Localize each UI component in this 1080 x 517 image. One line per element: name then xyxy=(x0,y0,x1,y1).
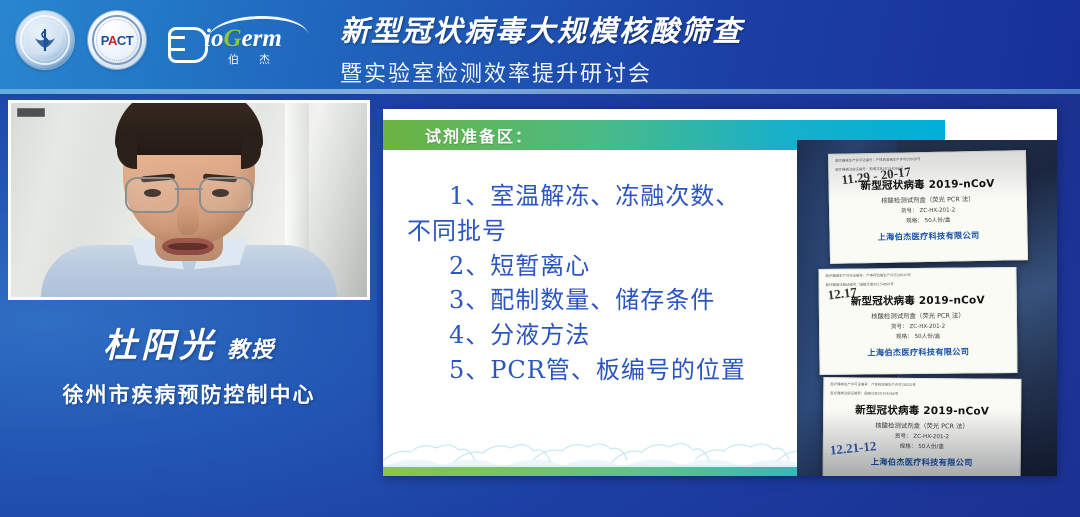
kit-handwriting: 12.17 xyxy=(827,284,858,303)
kit-reg-line-1: 医疗器械生产许可证编号：产体药监械生产许可20020号 xyxy=(830,382,1014,389)
event-banner: PACT ioGerm 伯杰 新型冠状病毒大规模核酸筛查 暨实验室检测效率提升研… xyxy=(0,0,1080,94)
reagent-photo: 医疗器械生产许可证编号：产体药监械生产许可20020号 医疗器械注册证编号：国械… xyxy=(797,140,1057,476)
speaker-video-panel[interactable] xyxy=(8,100,370,300)
speaker-figure xyxy=(49,107,329,297)
kit-product-sub: 核酸检测试剂盒（荧光 PCR 法） xyxy=(824,420,1020,431)
kit-reg-line-2: 医疗器械注册证编号：国械注准20154066号 xyxy=(830,391,1014,398)
event-subtitle: 暨实验室检测效率提升研讨会 xyxy=(340,56,743,88)
event-title: 新型冠状病毒大规模核酸筛查 xyxy=(340,8,743,50)
kit-product-sub: 核酸检测试剂盒（荧光 PCR 法） xyxy=(820,310,1016,321)
kit-reg-line-1: 医疗器械生产许可证编号：产体药监械生产许可20020号 xyxy=(826,272,1010,279)
banner-titles: 新型冠状病毒大规模核酸筛查 暨实验室检测效率提升研讨会 xyxy=(340,8,743,88)
speaker-name-text: 杜阳光 xyxy=(103,326,217,366)
biogerm-word-pre: io xyxy=(204,25,223,52)
lens-right xyxy=(199,177,253,213)
slide-line-3: 2、短暂离心 xyxy=(407,249,837,284)
slide-section-title: 试剂准备区： xyxy=(425,123,533,147)
biogerm-e-mark-icon xyxy=(168,27,208,63)
biogerm-chinese-name: 伯杰 xyxy=(228,51,290,67)
slide-line-6: 5、PCR管、板编号的位置 xyxy=(407,353,837,388)
presentation-slide: 试剂准备区： 1、室温解冻、冻融次数、 不同批号 2、短暂离心 3、配制数量、储… xyxy=(383,109,1057,476)
hair xyxy=(115,100,263,155)
slide-line-4: 3、配制数量、储存条件 xyxy=(407,283,837,318)
kit-catalog-number: 货号： ZC-HX-201-2 xyxy=(820,321,1016,331)
mouth xyxy=(162,238,214,255)
reagent-kit-box: 医疗器械生产许可证编号：产体药监械生产许可20020号 医疗器械注册证编号：国械… xyxy=(818,267,1017,375)
pact-seal-label: PACT xyxy=(101,33,133,48)
kit-reg-line-1: 医疗器械生产许可证编号：产体药监械生产许可20020号 xyxy=(835,155,1019,164)
biogerm-logo: ioGerm 伯杰 xyxy=(168,13,308,67)
biogerm-wordmark: ioGerm xyxy=(204,25,282,53)
kit-company-name: 上海伯杰医疗科技有限公司 xyxy=(830,228,1026,244)
kit-company-name: 上海伯杰医疗科技有限公司 xyxy=(820,345,1016,359)
lens-left xyxy=(125,177,179,213)
slide-line-5: 4、分液方法 xyxy=(407,318,837,353)
biogerm-word-accent: G xyxy=(223,25,241,52)
speaker-organization: 徐州市疾病预防控制中心 xyxy=(8,379,370,409)
slide-bullet-list: 1、室温解冻、冻融次数、 不同批号 2、短暂离心 3、配制数量、储存条件 4、分… xyxy=(383,161,837,388)
kit-specification: 规格： 50人份/盒 xyxy=(820,331,1016,341)
cdc-seal-icon xyxy=(16,11,74,69)
reagent-kit-box: 医疗器械生产许可证编号：产体药监械生产许可20020号 医疗器械注册证编号：国械… xyxy=(823,377,1022,476)
video-watermark-badge xyxy=(17,108,45,117)
video-feed xyxy=(11,103,367,297)
pact-seal-icon: PACT xyxy=(88,11,146,69)
speaker-rank: 教授 xyxy=(227,337,275,363)
biogerm-word-post: erm xyxy=(242,25,282,52)
logo-group: PACT ioGerm 伯杰 xyxy=(16,11,308,69)
kit-specification: 规格： 50人份/盒 xyxy=(830,214,1026,226)
reagent-kit-box: 医疗器械生产许可证编号：产体药监械生产许可20020号 医疗器械注册证编号：国械… xyxy=(828,150,1028,264)
nose xyxy=(177,205,199,235)
presentation-screenshot: PACT ioGerm 伯杰 新型冠状病毒大规模核酸筛查 暨实验室检测效率提升研… xyxy=(0,0,1080,517)
speaker-name: 杜阳光教授 xyxy=(8,318,370,367)
slide-line-1: 1、室温解冻、冻融次数、 xyxy=(407,179,837,214)
slide-line-2: 不同批号 xyxy=(407,214,837,249)
kit-product-name: 新型冠状病毒 2019-nCoV xyxy=(824,402,1020,419)
speaker-caption: 杜阳光教授 徐州市疾病预防控制中心 xyxy=(8,318,370,409)
kit-company-name: 上海伯杰医疗科技有限公司 xyxy=(824,455,1020,469)
